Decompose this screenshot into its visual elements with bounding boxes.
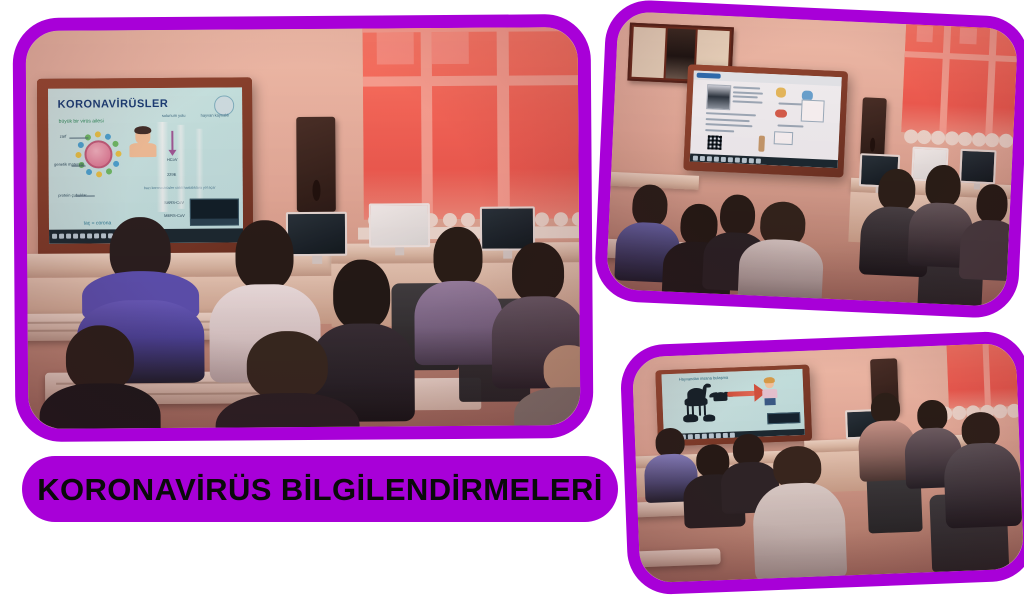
document-icon xyxy=(758,136,765,153)
document-text-line xyxy=(733,91,762,94)
student-head xyxy=(333,259,390,329)
camel-leg xyxy=(699,405,701,416)
human-torso xyxy=(762,388,777,398)
chicken-silhouette xyxy=(703,415,716,422)
classroom-scene: KORONAVİRÜSLER büyük bir virüs ailesi xyxy=(26,27,581,429)
student-torso xyxy=(414,281,503,366)
student-head xyxy=(976,183,1009,224)
chicken-silhouette xyxy=(683,414,699,423)
photo-classroom-zoonotic[interactable]: Hayvandan insana bulaşma xyxy=(619,330,1024,595)
title-banner: KORONAVİRÜS BİLGİLENDİRMELERİ xyxy=(22,456,618,522)
slide-title: Hayvandan insana bulaşma xyxy=(679,375,729,382)
window-pane xyxy=(916,26,933,43)
document-icon xyxy=(776,87,787,97)
human-head xyxy=(765,379,774,389)
embedded-video-player[interactable] xyxy=(767,412,800,424)
window-mullion xyxy=(497,27,510,219)
student-silhouette xyxy=(215,331,359,429)
column-header: solunum yolu xyxy=(162,113,186,118)
document-icon xyxy=(775,109,787,118)
document-text-line xyxy=(705,123,752,127)
virus-diagram xyxy=(73,129,124,180)
student-head xyxy=(655,428,685,458)
person-hair xyxy=(134,126,151,135)
camel-head xyxy=(704,383,710,388)
student-silhouette xyxy=(738,200,826,304)
document-box xyxy=(773,131,793,145)
photo-classroom-infographic[interactable] xyxy=(593,0,1024,319)
student-silhouette xyxy=(959,183,1018,280)
classroom-scene xyxy=(606,11,1018,307)
student-head xyxy=(236,220,294,290)
photo-top-right-content xyxy=(606,11,1018,307)
student-head xyxy=(925,164,961,208)
human-illustration xyxy=(761,379,779,406)
portrait-text-left xyxy=(632,27,666,78)
column-header: hayvan kaynaklı xyxy=(201,113,230,118)
student-hoodie xyxy=(752,481,848,581)
student-head xyxy=(632,184,668,227)
document-box xyxy=(801,99,825,122)
document-photo xyxy=(706,84,731,110)
student-head xyxy=(511,242,564,303)
monitor-stand xyxy=(395,247,405,255)
leader-line xyxy=(72,165,86,166)
classroom-scene: Hayvandan insana bulaşma xyxy=(632,343,1024,584)
document-text-line xyxy=(706,112,756,116)
slide-title: KORONAVİRÜSLER xyxy=(58,98,169,111)
student-silhouette xyxy=(39,325,161,429)
student-silhouette xyxy=(413,227,502,363)
window-pane xyxy=(376,32,413,64)
down-arrow-icon xyxy=(171,131,173,151)
window-transom xyxy=(363,75,581,87)
screen-glare xyxy=(176,125,186,208)
window-mullion xyxy=(420,27,433,219)
document-text-line xyxy=(733,95,758,98)
screen-glare xyxy=(195,128,203,205)
student-silhouette xyxy=(514,345,581,429)
human-legs xyxy=(765,398,776,405)
window-pane xyxy=(960,28,977,45)
wall-speaker xyxy=(297,116,336,212)
student-torso xyxy=(216,392,360,429)
document-text-line xyxy=(705,129,734,132)
leader-line xyxy=(76,195,95,196)
banner-title-text: KORONAVİRÜS BİLGİLENDİRMELERİ xyxy=(37,474,603,505)
document-text-line xyxy=(777,125,804,128)
student-torso xyxy=(514,387,581,429)
person-body xyxy=(130,143,157,157)
slide-subtitle: büyük bir virüs ailesi xyxy=(59,118,104,124)
person-illustration xyxy=(129,127,156,157)
document-text-line xyxy=(733,86,760,89)
student-head xyxy=(247,331,328,400)
student-torso xyxy=(943,442,1023,528)
student-head xyxy=(65,325,133,392)
student-torso xyxy=(959,218,1018,281)
window-curtain xyxy=(901,16,1018,139)
document-text-line xyxy=(705,118,749,122)
photo-main-content: KORONAVİRÜSLER büyük bir virüs ailesi xyxy=(26,27,581,429)
window-curtain xyxy=(362,27,580,220)
interactive-whiteboard[interactable] xyxy=(683,64,848,177)
student-silhouette xyxy=(751,444,848,579)
transmission-arrow-icon xyxy=(727,391,755,397)
student-torso xyxy=(737,238,824,306)
person-head xyxy=(135,127,150,144)
photo-bottom-right-content: Hayvandan insana bulaşma xyxy=(632,343,1024,584)
qr-code xyxy=(707,135,722,150)
document-text-line xyxy=(733,100,762,103)
camel-silhouette xyxy=(682,387,711,416)
collage-canvas: KORONAVİRÜSLER büyük bir virüs ailesi xyxy=(0,0,1024,577)
screen-glare xyxy=(157,122,169,211)
student-torso xyxy=(39,383,161,429)
camel-leg xyxy=(704,405,706,416)
photo-main-classroom[interactable]: KORONAVİRÜSLER büyük bir virüs ailesi xyxy=(13,14,594,442)
board-screen[interactable] xyxy=(690,71,841,168)
student-head xyxy=(433,227,483,287)
window-pane xyxy=(432,32,469,64)
label-spike: zarf xyxy=(60,134,67,139)
student-silhouette xyxy=(941,410,1022,526)
wall-speaker xyxy=(860,97,887,159)
leader-line xyxy=(69,137,88,138)
